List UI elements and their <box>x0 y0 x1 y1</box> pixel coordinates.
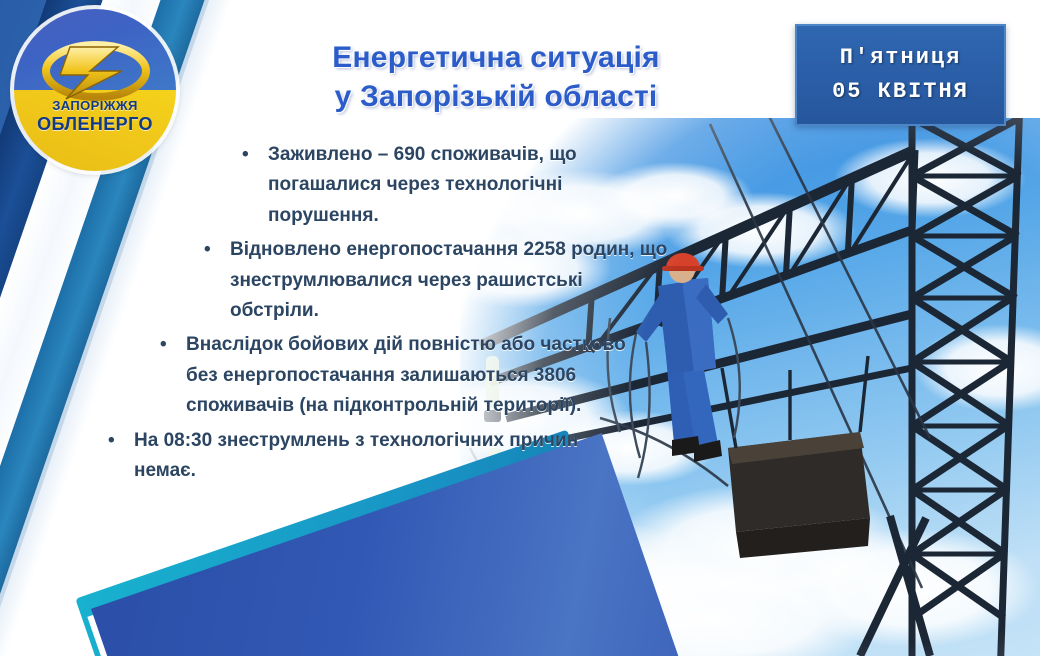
bullet-marker-icon: • <box>204 235 230 326</box>
page-title: Енергетична ситуація у Запорізькій облас… <box>236 38 756 116</box>
list-item: • Відновлено енергопостачання 2258 родин… <box>204 235 674 326</box>
title-line-2: у Запорізькій області <box>236 77 756 116</box>
list-item: • Внаслідок бойових дій повністю або час… <box>160 330 660 421</box>
title-line-1: Енергетична ситуація <box>236 38 756 77</box>
list-item-text: На 08:30 знеструмлень з технологічних пр… <box>134 426 628 487</box>
list-item-text: Внаслідок бойових дій повністю або частк… <box>186 330 660 421</box>
badge-weekday: Пʹятниця <box>840 41 962 75</box>
list-item: • На 08:30 знеструмлень з технологічних … <box>108 426 628 487</box>
logo-text-line1: ЗАПОРІЖЖЯ <box>14 98 176 113</box>
list-item-text: Відновлено енергопостачання 2258 родин, … <box>230 235 674 326</box>
lightning-emblem-icon <box>36 41 154 103</box>
list-item-text: Заживлено – 690 споживачів, що погашалис… <box>268 140 662 231</box>
bullet-marker-icon: • <box>108 426 134 487</box>
list-item: • Заживлено – 690 споживачів, що погашал… <box>242 140 662 231</box>
badge-date: 05 КВІТНЯ <box>832 75 969 109</box>
date-badge: Пʹятниця 05 КВІТНЯ <box>795 24 1006 126</box>
bullet-marker-icon: • <box>160 330 186 421</box>
logo-text-line2: ОБЛЕНЕРГО <box>14 114 176 135</box>
bullet-marker-icon: • <box>242 140 268 231</box>
slide-canvas: ЗАПОРІЖЖЯ ОБЛЕНЕРГО Енергетична ситуація… <box>0 0 1040 656</box>
status-bullet-list: • Заживлено – 690 споживачів, що погашал… <box>108 140 680 490</box>
